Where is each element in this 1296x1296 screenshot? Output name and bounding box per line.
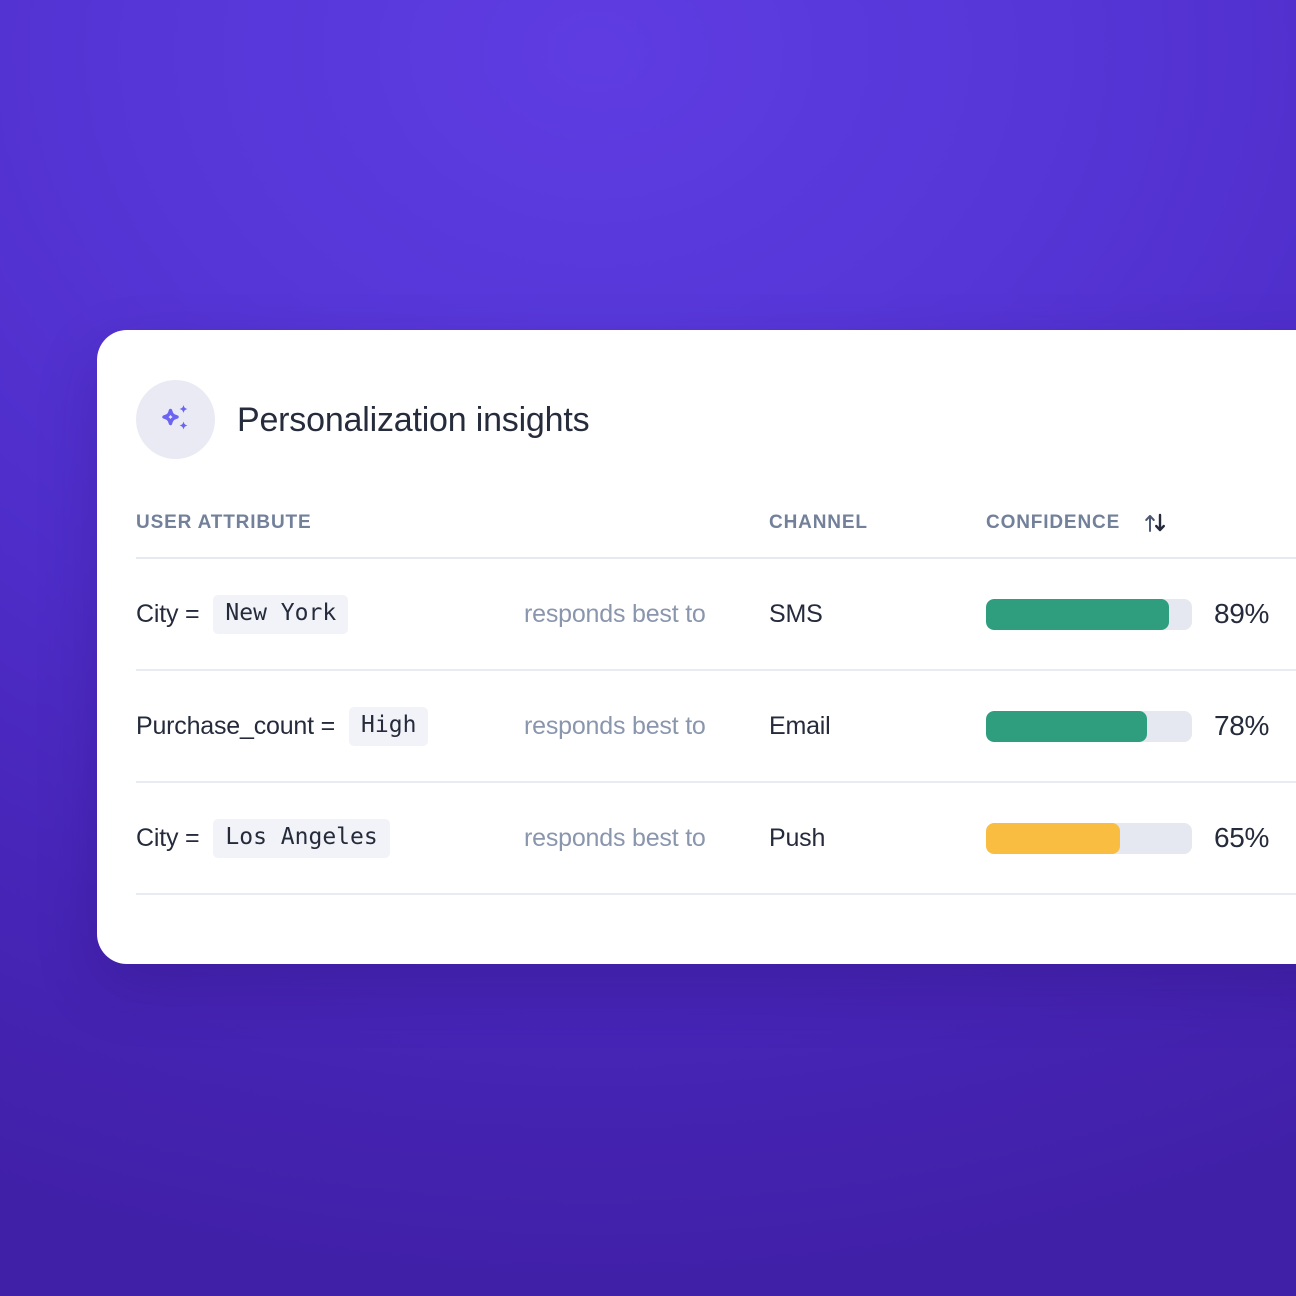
column-header-user-attribute[interactable]: USER ATTRIBUTE — [136, 512, 524, 534]
cell-user-attribute: City = Los Angeles — [136, 819, 524, 858]
table-row[interactable]: City = Los Angeles responds best to Push… — [136, 783, 1296, 895]
confidence-value-label: 65% — [1214, 822, 1269, 854]
confidence-bar-track — [986, 711, 1192, 742]
confidence-bar-track — [986, 599, 1192, 630]
cell-channel: Email — [769, 712, 986, 741]
personalization-insights-card: Personalization insights USER ATTRIBUTE … — [97, 330, 1296, 964]
card-header: Personalization insights — [97, 330, 1296, 459]
column-header-channel[interactable]: CHANNEL — [769, 512, 986, 534]
cell-phrase: responds best to — [524, 824, 769, 853]
table-row[interactable]: Purchase_count = High responds best to E… — [136, 671, 1296, 783]
attribute-key: Purchase_count = — [136, 712, 335, 741]
attribute-value-chip: High — [349, 707, 428, 746]
confidence-value-label: 78% — [1214, 710, 1269, 742]
cell-user-attribute: Purchase_count = High — [136, 707, 524, 746]
confidence-bar-fill — [986, 711, 1147, 742]
cell-confidence: 65% — [986, 822, 1296, 854]
confidence-bar-track — [986, 823, 1192, 854]
column-header-confidence-label: CONFIDENCE — [986, 512, 1120, 534]
cell-confidence: 89% — [986, 598, 1296, 630]
sort-updown-icon[interactable] — [1142, 511, 1168, 535]
cell-phrase: responds best to — [524, 600, 769, 629]
cell-user-attribute: City = New York — [136, 595, 524, 634]
sparkles-icon — [136, 380, 215, 459]
confidence-bar-fill — [986, 823, 1120, 854]
page-title: Personalization insights — [237, 403, 589, 437]
table-row[interactable]: City = New York responds best to SMS 89% — [136, 559, 1296, 671]
insights-table: USER ATTRIBUTE CHANNEL CONFIDENCE City =… — [97, 511, 1296, 895]
cell-phrase: responds best to — [524, 712, 769, 741]
attribute-value-chip: Los Angeles — [213, 819, 389, 858]
attribute-key: City = — [136, 600, 199, 629]
attribute-key: City = — [136, 824, 199, 853]
attribute-value-chip: New York — [213, 595, 348, 634]
column-header-confidence[interactable]: CONFIDENCE — [986, 511, 1296, 535]
table-header-row: USER ATTRIBUTE CHANNEL CONFIDENCE — [136, 511, 1296, 559]
cell-channel: Push — [769, 824, 986, 853]
cell-channel: SMS — [769, 600, 986, 629]
cell-confidence: 78% — [986, 710, 1296, 742]
confidence-bar-fill — [986, 599, 1169, 630]
confidence-value-label: 89% — [1214, 598, 1269, 630]
